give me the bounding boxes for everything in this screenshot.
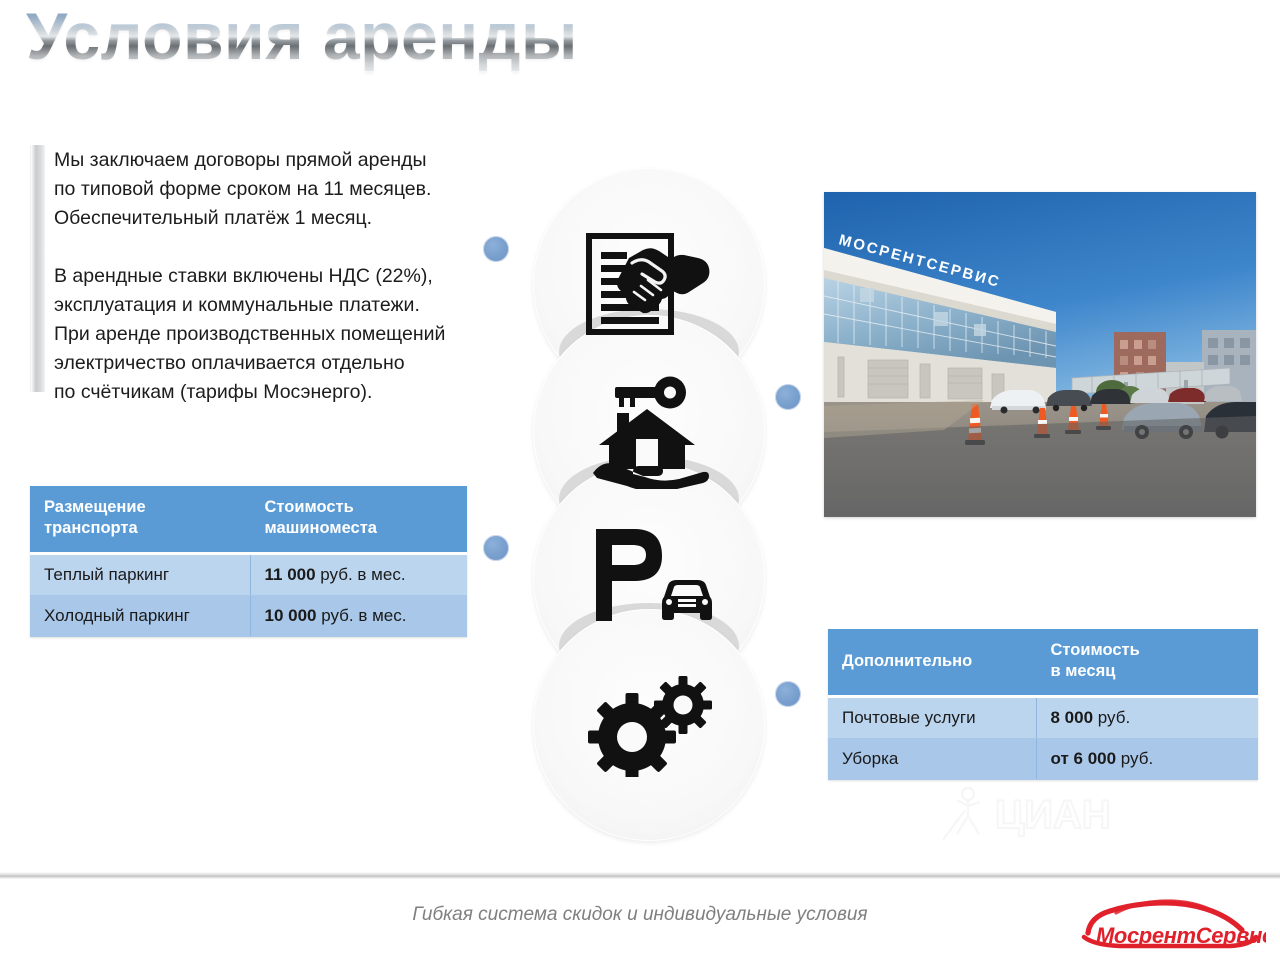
watermark-text: ЦИАН	[995, 793, 1111, 837]
table-header-row: Дополнительно Стоимость в месяц	[828, 629, 1258, 697]
bullet-dot-1	[483, 236, 509, 262]
intro-paragraph: Мы заключаем договоры прямой аренды по т…	[54, 146, 494, 407]
price-value: 10 000	[265, 606, 317, 625]
cell-price: от 6 000 руб.	[1036, 739, 1258, 780]
logo-text: МосрентСервис	[1096, 923, 1266, 948]
header-extra: Дополнительно	[828, 629, 1036, 697]
photo-illustration: МОСРЕНТСЕРВИС	[824, 192, 1256, 517]
extra-services-price-table: Дополнительно Стоимость в месяц Почтовые…	[828, 629, 1258, 780]
icon-circle-stack	[533, 168, 767, 808]
header-placement: Размещение транспорта	[30, 486, 250, 554]
price-unit: руб.	[1093, 708, 1130, 727]
bullet-dot-2	[775, 384, 801, 410]
cell-price: 11 000 руб. в мес.	[250, 554, 467, 596]
price-value: 8 000	[1051, 708, 1094, 727]
gears-icon	[579, 663, 719, 787]
table-header-row: Размещение транспорта Стоимость машиноме…	[30, 486, 467, 554]
price-value: 11 000	[265, 565, 316, 584]
cell-name: Уборка	[828, 739, 1036, 780]
cell-name: Холодный паркинг	[30, 596, 250, 637]
cian-watermark: ЦИАН	[935, 782, 1185, 844]
building-photo: МОСРЕНТСЕРВИС	[824, 192, 1256, 517]
cell-price: 8 000 руб.	[1036, 697, 1258, 739]
house-key-in-hand-icon	[579, 369, 719, 493]
cell-price: 10 000 руб. в мес.	[250, 596, 467, 637]
header-price: Стоимость машиноместа	[250, 486, 467, 554]
cell-name: Почтовые услуги	[828, 697, 1036, 739]
price-value: от 6 000	[1051, 749, 1117, 768]
table-row: Почтовые услуги 8 000 руб.	[828, 697, 1258, 739]
left-accent-bar	[30, 145, 45, 392]
bullet-dot-4	[775, 681, 801, 707]
page-title: Условия аренды	[26, 2, 578, 71]
header-price: Стоимость в месяц	[1036, 629, 1258, 697]
mosrentservice-logo: МосрентСервис	[1080, 893, 1266, 951]
price-unit: руб.	[1116, 749, 1153, 768]
price-unit: руб. в мес.	[316, 565, 406, 584]
table-row: Холодный паркинг 10 000 руб. в мес.	[30, 596, 467, 637]
circle-services	[533, 609, 765, 841]
table-row: Теплый паркинг 11 000 руб. в мес.	[30, 554, 467, 596]
parking-car-icon	[579, 516, 719, 640]
table-row: Уборка от 6 000 руб.	[828, 739, 1258, 780]
cell-name: Теплый паркинг	[30, 554, 250, 596]
price-unit: руб. в мес.	[317, 606, 407, 625]
bullet-dot-3	[483, 535, 509, 561]
parking-price-table: Размещение транспорта Стоимость машиноме…	[30, 486, 467, 637]
footer-divider	[0, 872, 1280, 879]
contract-handshake-icon	[579, 222, 719, 346]
